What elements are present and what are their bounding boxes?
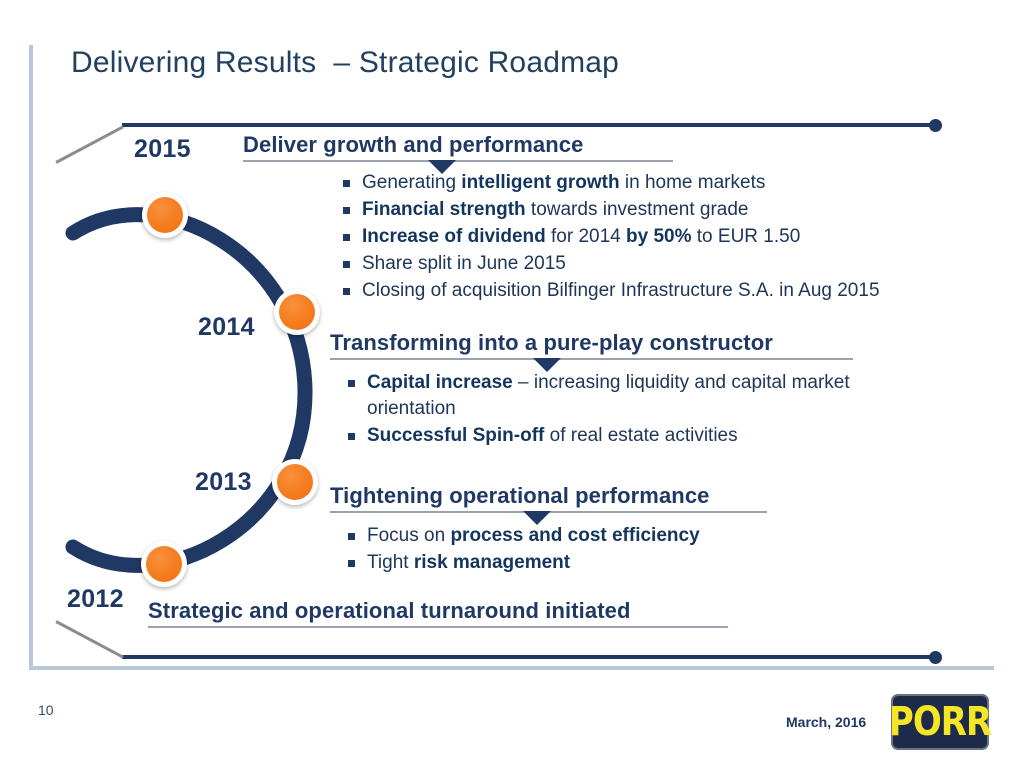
list-item: Generating intelligent growth in home ma… — [341, 170, 673, 196]
connector-endcap-bottom-icon — [929, 651, 942, 664]
bullet-list-2014: Capital increase – increasing liquidity … — [346, 370, 853, 449]
bullet-list-2015: Generating intelligent growth in home ma… — [341, 170, 673, 304]
porr-logo: PORR — [891, 694, 989, 750]
section-rule-2015 — [243, 160, 673, 162]
list-item: Closing of acquisition Bilfinger Infrast… — [341, 278, 673, 304]
frame-left-border — [29, 45, 33, 670]
list-item: Capital increase – increasing liquidity … — [346, 370, 853, 422]
section-rule-2014 — [330, 358, 853, 360]
year-label-2012: 2012 — [67, 585, 124, 614]
section-heading-2013: Tightening operational performance — [330, 483, 767, 509]
diagonal-line-top — [55, 125, 124, 163]
connector-endcap-top-icon — [929, 119, 942, 132]
page-title: Delivering Results – Strategic Roadmap — [71, 46, 619, 80]
list-item: Tight risk management — [346, 550, 767, 576]
timeline-marker-2012 — [141, 541, 187, 587]
section-2015: Deliver growth and performance Generatin… — [243, 132, 673, 305]
year-label-2013: 2013 — [195, 468, 252, 497]
connector-line-top — [122, 123, 934, 127]
list-item: Financial strength towards investment gr… — [341, 197, 673, 223]
year-label-2014: 2014 — [198, 313, 255, 342]
list-item: Increase of dividend for 2014 by 50% to … — [341, 224, 673, 250]
list-item: Share split in June 2015 — [341, 251, 673, 277]
frame-bottom-border — [29, 666, 994, 670]
timeline-marker-2013 — [272, 459, 318, 505]
bullet-list-2013: Focus on process and cost efficiencyTigh… — [346, 523, 767, 576]
section-heading-2012: Strategic and operational turnaround ini… — [148, 598, 728, 624]
section-heading-2014: Transforming into a pure-play constructo… — [330, 330, 853, 356]
list-item: Focus on process and cost efficiency — [346, 523, 767, 549]
slide-canvas: Delivering Results – Strategic Roadmap 2… — [0, 0, 1024, 768]
section-2013: Tightening operational performance Focus… — [330, 483, 767, 577]
section-2012: Strategic and operational turnaround ini… — [148, 598, 728, 628]
page-number: 10 — [38, 702, 54, 718]
logo-wordmark: PORR — [889, 698, 991, 745]
section-rule-2013 — [330, 511, 767, 513]
divider-line — [148, 626, 728, 628]
list-item: Successful Spin-off of real estate activ… — [346, 423, 853, 449]
diagonal-line-bottom — [55, 620, 124, 658]
section-rule-2012 — [148, 626, 728, 628]
date-label: March, 2016 — [786, 714, 866, 730]
section-heading-2015: Deliver growth and performance — [243, 132, 673, 158]
divider-line — [243, 160, 673, 162]
divider-line — [330, 358, 853, 360]
section-2014: Transforming into a pure-play constructo… — [330, 330, 853, 450]
timeline-marker-2015 — [142, 192, 188, 238]
connector-line-bottom — [122, 655, 934, 659]
year-label-2015: 2015 — [134, 135, 191, 164]
